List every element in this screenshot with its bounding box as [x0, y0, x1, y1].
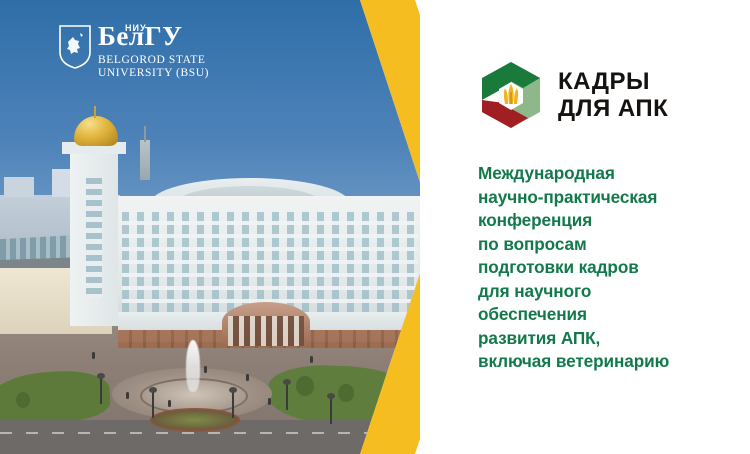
conference-banner: НИУ БелГУ BELGOROD STATE UNIVERSITY (BSU…: [0, 0, 750, 454]
pedestrian: [204, 366, 207, 373]
building-window-rows: [122, 212, 418, 316]
conference-headline: Международная научно-практическая конфер…: [478, 162, 740, 374]
headline-line-8: развития АПК,: [478, 327, 740, 351]
street-lamp: [152, 392, 154, 418]
headline-line-5: подготовки кадров: [478, 256, 740, 280]
fountain-water-jet: [186, 340, 200, 392]
university-abbrev-niu: НИУ: [125, 23, 147, 33]
pedestrian: [126, 392, 129, 399]
tree: [16, 392, 30, 408]
pedestrian: [168, 400, 171, 407]
pedestrian: [268, 398, 271, 405]
belgorod-state-university-logo[interactable]: НИУ БелГУ BELGOROD STATE UNIVERSITY (BSU…: [58, 22, 208, 90]
headline-line-1: Международная: [478, 162, 740, 186]
pedestrian: [246, 374, 249, 381]
headline-line-3: конференция: [478, 209, 740, 233]
shield-horseman-icon: [58, 24, 92, 70]
headline-line-2: научно-практическая: [478, 186, 740, 210]
dome-finial: [94, 106, 96, 118]
university-name-en-line2: UNIVERSITY (BSU): [98, 67, 209, 79]
university-name-ru: НИУ БелГУ: [98, 22, 182, 50]
university-name-en: BELGOROD STATE UNIVERSITY (BSU): [98, 54, 209, 80]
street-lamp: [330, 398, 332, 424]
tree: [338, 384, 354, 402]
pedestrian: [310, 356, 313, 363]
street-lamp: [286, 384, 288, 410]
brand-title-line2: ДЛЯ АПК: [558, 95, 668, 122]
street-lamp: [100, 378, 102, 404]
building-spire: [140, 140, 150, 180]
flower-bed: [150, 408, 240, 432]
kadry-dlya-apk-brand[interactable]: КАДРЫ ДЛЯ АПК: [478, 58, 668, 132]
entrance-portico-arch: [222, 302, 310, 346]
street-lamp: [232, 392, 234, 418]
headline-line-7: обеспечения: [478, 303, 740, 327]
headline-line-4: по вопросам: [478, 233, 740, 257]
brand-title-line1: КАДРЫ: [558, 68, 668, 95]
tower-windows: [86, 178, 102, 298]
pedestrian: [92, 352, 95, 359]
brand-title: КАДРЫ ДЛЯ АПК: [558, 68, 668, 122]
headline-line-9: включая ветеринарию: [478, 350, 740, 374]
hexagon-wheat-logo: [478, 58, 544, 132]
headline-line-6: для научного: [478, 280, 740, 304]
tree: [296, 376, 314, 396]
university-name-en-line1: BELGOROD STATE: [98, 54, 205, 66]
